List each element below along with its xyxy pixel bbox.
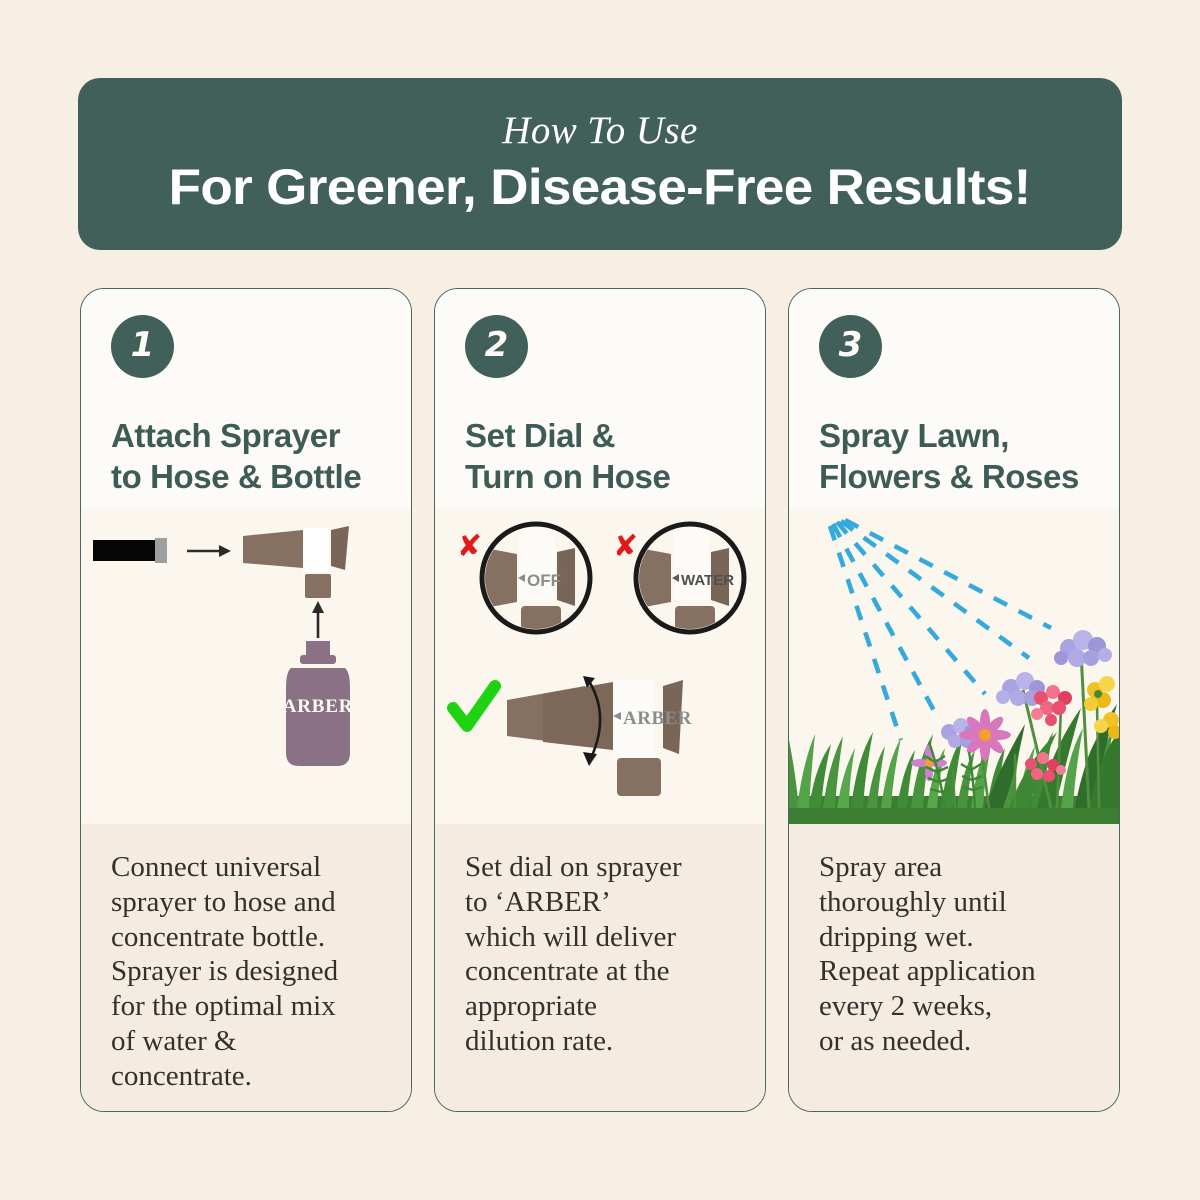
header-banner: How To Use For Greener, Disease-Free Res… (78, 78, 1122, 250)
dial-setting-icon: ✘ OFF ✘ (435, 508, 765, 824)
concentrate-bottle-icon: ARBER (283, 641, 354, 766)
step-2-description: Set dial on sprayer to ‘ARBER’ which wil… (435, 824, 765, 1111)
step-number-badge-3: 3 (819, 315, 882, 378)
correct-dial-arber-group: ARBER (453, 676, 692, 796)
step-3-header: 3 Spray Lawn, Flowers & Roses (789, 289, 1119, 508)
step-2-title: Set Dial & Turn on Hose (465, 416, 735, 500)
steps-container: 1 Attach Sprayer to Hose & Bottle (80, 288, 1120, 1112)
rotate-arrow-head-bottom (583, 752, 597, 766)
cross-icon-off: ✘ (457, 529, 482, 564)
header-eyebrow: How To Use (502, 111, 697, 150)
step-1-description: Connect universal sprayer to hose and co… (81, 824, 411, 1112)
page-title: For Greener, Disease-Free Results! (169, 162, 1031, 212)
dial-label-arber: ARBER (623, 708, 692, 729)
hose-body-icon (93, 540, 155, 561)
step-card-3: 3 Spray Lawn, Flowers & Roses (788, 288, 1120, 1112)
sprayer-dial-window-icon (303, 528, 329, 572)
step-1-title: Attach Sprayer to Hose & Bottle (111, 416, 381, 500)
svg-text:ARBER: ARBER (283, 696, 354, 717)
step-card-1: 1 Attach Sprayer to Hose & Bottle (80, 288, 412, 1112)
step-3-title: Spray Lawn, Flowers & Roses (819, 416, 1089, 500)
dial-label-off: OFF (527, 571, 561, 590)
step-1-illustration: ARBER (81, 508, 411, 824)
step-2-illustration: ✘ OFF ✘ (435, 508, 765, 824)
step-2-header: 2 Set Dial & Turn on Hose (435, 289, 765, 508)
sprayer-nozzle-icon (331, 526, 349, 570)
arrow-head-icon (219, 545, 231, 557)
sprayer-barrel-mid-icon (543, 682, 613, 750)
arrow-up-head-icon (312, 601, 324, 613)
check-icon-arber (453, 686, 495, 726)
dial-label-water: WATER (681, 572, 734, 589)
step-number-badge-2: 2 (465, 315, 528, 378)
sprayer-neck-icon (305, 574, 331, 598)
wrong-dial-off-group: ✘ OFF (457, 524, 590, 640)
step-number-badge-1: 1 (111, 315, 174, 378)
sprayer-barrel-icon (243, 530, 303, 568)
step-3-illustration (789, 508, 1119, 824)
cross-icon-water: ✘ (613, 529, 638, 564)
wrong-dial-water-group: ✘ WATER (613, 524, 744, 640)
hose-tip-icon (155, 538, 167, 563)
step-3-description: Spray area thoroughly until dripping wet… (789, 824, 1119, 1111)
garden-spray-icon (789, 508, 1119, 824)
hose-sprayer-bottle-icon: ARBER (81, 508, 411, 824)
how-to-use-infographic: How To Use For Greener, Disease-Free Res… (0, 0, 1200, 1200)
sprayer-neck-icon-2 (617, 758, 661, 796)
step-card-2: 2 Set Dial & Turn on Hose ✘ (434, 288, 766, 1112)
step-1-header: 1 Attach Sprayer to Hose & Bottle (81, 289, 411, 508)
